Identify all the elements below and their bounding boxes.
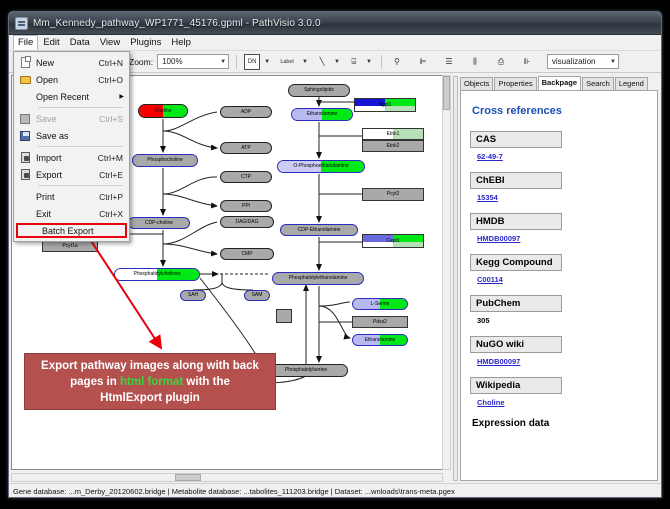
callout-line2-post: with the <box>183 376 230 388</box>
node-label: ADP <box>241 110 251 115</box>
node-pdss2[interactable]: Pdss2 <box>352 316 408 328</box>
node-phosphatidylserine[interactable]: Phosphatidylserine <box>264 364 348 377</box>
node-phosphocholine[interactable]: Phosphocholine <box>132 154 198 167</box>
xref-value-cas[interactable]: 62-49-7 <box>477 152 648 161</box>
label-button[interactable]: Label <box>276 54 298 70</box>
menu-divider <box>38 107 123 108</box>
xref-value-kegg[interactable]: C00114 <box>477 275 648 284</box>
node-label: Phosphatidylethanolamine <box>289 276 348 281</box>
menu-item-accelerator: Ctrl+O <box>98 75 129 85</box>
node-ctp[interactable]: CTP <box>220 171 272 183</box>
scrollbar-thumb[interactable] <box>175 474 201 481</box>
order-icon[interactable]: ⊪ <box>519 54 535 70</box>
menu-item-label: Import <box>36 153 98 163</box>
node-sgpl1[interactable]: Sgpl1 <box>354 98 416 112</box>
menu-help[interactable]: Help <box>166 35 196 50</box>
zoom-value: 100% <box>162 57 182 66</box>
anchor-box[interactable] <box>276 309 292 323</box>
import-icon <box>14 152 36 163</box>
node-ethanolamine-right[interactable]: Ethanolamine <box>352 334 408 346</box>
sidebar-panel: Objects Properties Backpage Search Legen… <box>453 73 661 483</box>
node-sah[interactable]: SAH <box>180 290 206 301</box>
xref-value-chebi[interactable]: 15354 <box>477 193 648 202</box>
node-label: Phosphocholine <box>147 158 183 163</box>
node-label: CDP-Ethanolamine <box>298 228 341 233</box>
save-icon <box>14 114 36 124</box>
menu-file[interactable]: File <box>13 35 38 50</box>
menu-bar: File Edit Data View Plugins Help <box>9 35 661 51</box>
node-label: SAM <box>252 293 263 298</box>
title-bar: Mm_Kennedy_pathway_WP1771_45176.gpml - P… <box>9 12 661 35</box>
menu-item-label: Export <box>36 170 99 180</box>
new-document-icon <box>14 57 36 68</box>
menu-item-save-as[interactable]: Save as <box>14 127 129 144</box>
node-label: DAGIDAG <box>235 220 258 225</box>
toolbar-separator-2 <box>381 55 382 69</box>
xref-db-hmdb: HMDB <box>470 213 562 230</box>
node-label: CDP-choline <box>145 221 173 226</box>
expression-data-heading: Expression data <box>472 418 648 429</box>
node-phosphatidylcholines[interactable]: Phosphatidylcholines <box>114 268 200 281</box>
export-icon <box>14 169 36 180</box>
tab-properties[interactable]: Properties <box>494 77 536 90</box>
node-label: Cept1 <box>386 239 399 244</box>
node-label: O-Phosphoethanolamine <box>293 164 348 169</box>
xref-value-hmdb[interactable]: HMDB00097 <box>477 234 648 243</box>
anchor-icon[interactable]: ⚲ <box>389 54 405 70</box>
node-label: Etnk1 <box>387 132 400 137</box>
callout-line3: HtmlExport plugin <box>100 392 200 404</box>
menu-item-print[interactable]: Print Ctrl+P <box>14 188 129 205</box>
menu-item-label: Save as <box>36 131 123 141</box>
node-label: Pcyt1a <box>62 244 77 249</box>
node-label: Ethanolamine <box>307 112 338 117</box>
menu-edit[interactable]: Edit <box>38 35 64 50</box>
visualization-chevron-down-icon: ▼ <box>610 59 616 65</box>
app-icon <box>15 17 28 30</box>
node-label: Etnk2 <box>387 144 400 149</box>
menu-divider-2 <box>38 146 123 147</box>
tab-legend[interactable]: Legend <box>615 77 648 90</box>
datanode-chevron-down-icon[interactable]: ▼ <box>264 59 270 65</box>
menu-item-accelerator: Ctrl+X <box>99 209 129 219</box>
node-ethanolamine-top[interactable]: Ethanolamine <box>291 108 353 121</box>
visualization-combobox[interactable]: visualization ▼ <box>547 54 619 69</box>
sidebar-tabs: Objects Properties Backpage Search Legen… <box>455 76 658 90</box>
menu-item-accelerator: Ctrl+N <box>99 58 129 68</box>
node-ppi[interactable]: PPi <box>220 200 272 212</box>
node-dag[interactable]: DAGIDAG <box>220 216 274 228</box>
xref-db-nugo: NuGO wiki <box>470 336 562 353</box>
node-label: Pcyt2 <box>387 192 400 197</box>
menu-view[interactable]: View <box>95 35 125 50</box>
window-title: Mm_Kennedy_pathway_WP1771_45176.gpml - P… <box>33 18 321 29</box>
node-cmp[interactable]: CMP <box>220 248 274 260</box>
node-cept1[interactable]: Cept1 <box>362 234 424 248</box>
menu-plugins[interactable]: Plugins <box>125 35 166 50</box>
node-sphingolipids[interactable]: Sphingolipids <box>288 84 350 97</box>
xref-db-kegg: Kegg Compound <box>470 254 562 271</box>
xref-value-wikipedia[interactable]: Choline <box>477 398 648 407</box>
tab-objects[interactable]: Objects <box>460 77 493 90</box>
node-label: Sgpl1 <box>379 103 392 108</box>
align-left-icon[interactable]: ⊫ <box>415 54 431 70</box>
menu-item-label: Open Recent <box>36 92 119 102</box>
callout-line2-pre: pages in <box>70 376 120 388</box>
node-o-phosphoethanolamine[interactable]: O-Phosphoethanolamine <box>277 160 365 173</box>
label-chevron-down-icon[interactable]: ▼ <box>302 59 308 65</box>
menu-item-label: Open <box>36 75 98 85</box>
menu-item-label: Print <box>36 192 99 202</box>
menu-item-exit[interactable]: Exit Ctrl+X <box>14 205 129 222</box>
menu-item-open-recent[interactable]: Open Recent ▶ <box>14 88 129 105</box>
node-phosphatidylethanolamine[interactable]: Phosphatidylethanolamine <box>272 272 364 285</box>
open-folder-icon <box>14 76 36 84</box>
datanode-icon[interactable]: DN <box>244 54 260 70</box>
menu-item-label: Save <box>36 114 99 124</box>
node-choline-top[interactable]: Choline <box>138 104 188 118</box>
node-etnk1[interactable]: Etnk1 <box>362 128 424 140</box>
node-label: CMP <box>241 252 252 257</box>
callout-line1: Export pathway images along with back <box>41 360 259 372</box>
distribute-icon[interactable]: ⫼ <box>467 54 483 70</box>
node-label: Sphingolipids <box>304 88 334 93</box>
node-l-serine[interactable]: L-Serine <box>352 298 408 310</box>
file-menu-dropdown[interactable]: New Ctrl+N Open Ctrl+O Open Recent ▶ Sav… <box>13 51 130 242</box>
canvas-vertical-scrollbar[interactable] <box>442 75 451 470</box>
chevron-down-icon: ▼ <box>220 59 226 65</box>
group-icon[interactable]: ⎙ <box>493 54 509 70</box>
menu-item-label: New <box>36 58 99 68</box>
application-window: Mm_Kennedy_pathway_WP1771_45176.gpml - P… <box>8 11 662 498</box>
menu-item-label: Batch Export <box>40 226 125 236</box>
node-label: Ethanolamine <box>365 338 396 343</box>
node-atp[interactable]: ATP <box>220 142 272 154</box>
status-bar: Gene database: ...m_Derby_20120602.bridg… <box>9 483 661 498</box>
line-chevron-down-icon[interactable]: ▼ <box>334 59 340 65</box>
shape-icon[interactable]: ⌸ <box>346 54 362 70</box>
save-as-icon <box>14 131 36 141</box>
menu-item-import[interactable]: Import Ctrl+M <box>14 149 129 166</box>
menu-data[interactable]: Data <box>65 35 95 50</box>
desktop-background: Mm_Kennedy_pathway_WP1771_45176.gpml - P… <box>0 0 670 509</box>
node-pcyt2[interactable]: Pcyt2 <box>362 188 424 201</box>
align-stack-icon[interactable]: ☰ <box>441 54 457 70</box>
annotation-callout: Export pathway images along with back pa… <box>24 353 276 410</box>
sidebar-splitter[interactable] <box>453 76 458 481</box>
node-label: SAH <box>188 293 198 298</box>
cross-references-title: Cross references <box>472 105 648 117</box>
scrollbar-thumb[interactable] <box>443 76 450 110</box>
canvas-horizontal-scrollbar[interactable] <box>11 473 443 482</box>
node-cdp-ethanolamine[interactable]: CDP-Ethanolamine <box>280 224 358 236</box>
node-label: Phosphatidylserine <box>285 368 327 373</box>
node-adp[interactable]: ADP <box>220 106 272 118</box>
node-label: ATP <box>241 146 250 151</box>
node-label: PPi <box>242 204 250 209</box>
menu-item-accelerator: Ctrl+S <box>99 114 129 124</box>
tab-backpage[interactable]: Backpage <box>538 76 581 90</box>
zoom-label: Zoom: <box>129 57 153 67</box>
callout-line2-highlight: html format <box>120 376 183 388</box>
node-label: Choline <box>155 109 172 114</box>
node-etnk2[interactable]: Etnk2 <box>362 140 424 152</box>
backpage-content: Cross references CAS 62-49-7 ChEBI 15354… <box>460 90 658 481</box>
menu-item-save[interactable]: Save Ctrl+S <box>14 110 129 127</box>
menu-item-accelerator: Ctrl+E <box>99 170 129 180</box>
tab-search[interactable]: Search <box>582 77 614 90</box>
status-text: Gene database: ...m_Derby_20120602.bridg… <box>13 487 455 496</box>
xref-db-chebi: ChEBI <box>470 172 562 189</box>
line-icon[interactable]: ╲ <box>314 54 330 70</box>
xref-db-wikipedia: Wikipedia <box>470 377 562 394</box>
zoom-combobox[interactable]: 100% ▼ <box>157 54 229 69</box>
menu-item-open[interactable]: Open Ctrl+O <box>14 71 129 88</box>
node-label: L-Serine <box>371 302 390 307</box>
menu-item-new[interactable]: New Ctrl+N <box>14 54 129 71</box>
node-sam[interactable]: SAM <box>244 290 270 301</box>
menu-divider-3 <box>38 185 123 186</box>
menu-item-accelerator: Ctrl+M <box>98 153 129 163</box>
menu-item-accelerator: Ctrl+P <box>99 192 129 202</box>
node-label: CTP <box>241 175 251 180</box>
menu-item-export[interactable]: Export Ctrl+E <box>14 166 129 183</box>
xref-value-nugo[interactable]: HMDB00097 <box>477 357 648 366</box>
xref-value-pubchem: 305 <box>477 316 648 325</box>
visualization-value: visualization <box>552 57 596 66</box>
toolbar-separator <box>236 55 237 69</box>
menu-item-batch-export[interactable]: Batch Export <box>16 223 127 238</box>
node-cdp-choline[interactable]: CDP-choline <box>128 217 190 229</box>
xref-db-cas: CAS <box>470 131 562 148</box>
shape-chevron-down-icon[interactable]: ▼ <box>366 59 372 65</box>
xref-db-pubchem: PubChem <box>470 295 562 312</box>
node-label: Phosphatidylcholines <box>134 272 181 277</box>
node-label: Pdss2 <box>373 320 387 325</box>
submenu-arrow-icon: ▶ <box>119 93 129 100</box>
menu-item-label: Exit <box>36 209 99 219</box>
